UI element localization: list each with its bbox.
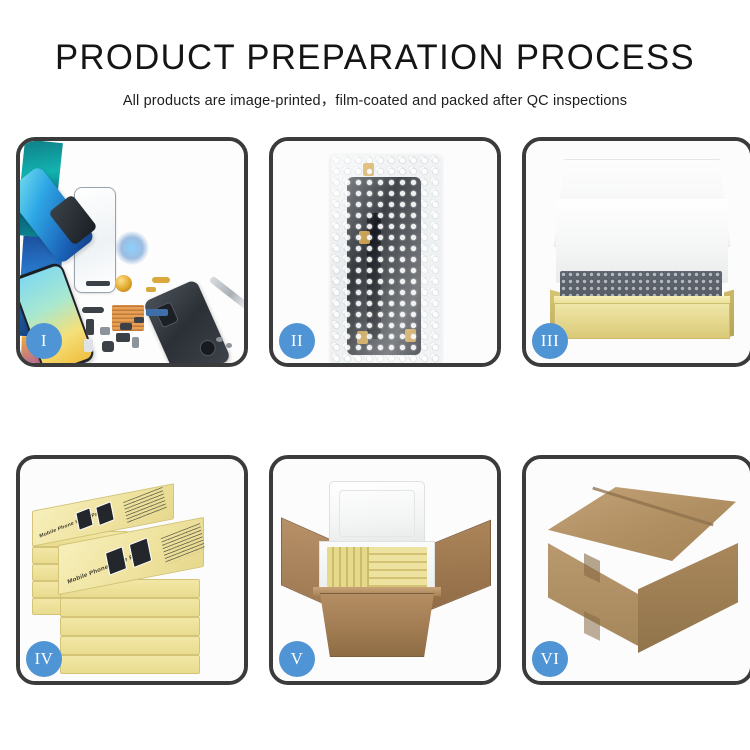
- part-button: [102, 341, 114, 352]
- box-stack: Mobile Phone Spare Parts Mobile Phone Sp…: [30, 475, 242, 675]
- part-chip-1: [86, 319, 94, 335]
- step-badge-4: IV: [26, 641, 62, 677]
- stack-box-spec-lines-front: [161, 523, 206, 565]
- process-step-1[interactable]: I: [16, 137, 248, 367]
- step-badge-2: II: [279, 323, 315, 359]
- carton-front: [315, 593, 439, 657]
- process-step-6[interactable]: VI: [522, 455, 750, 685]
- step-badge-6: VI: [532, 641, 568, 677]
- step-badge-3: III: [532, 323, 568, 359]
- bubble-wrap-package: [331, 155, 441, 363]
- part-chip-3: [116, 333, 130, 342]
- part-screw: [216, 337, 223, 342]
- plastic-sheen: [331, 155, 441, 363]
- stack-box-product-image-1: [75, 507, 93, 531]
- stack-box-front-4: [60, 636, 200, 655]
- process-step-5[interactable]: V: [269, 455, 501, 685]
- foam-lid: [329, 481, 425, 547]
- stack-box-spec-lines-rear: [123, 487, 167, 525]
- part-ribbon: [82, 307, 104, 313]
- carton-right-face: [638, 543, 738, 653]
- box-front-panel: [554, 303, 730, 339]
- sealed-carton: [540, 487, 744, 659]
- stack-box-product-image-2: [95, 501, 115, 526]
- process-step-4[interactable]: Mobile Phone Spare Parts Mobile Phone Sp…: [16, 455, 248, 685]
- part-screw-2: [226, 343, 232, 348]
- part-bracket: [134, 317, 144, 323]
- step-badge-5: V: [279, 641, 315, 677]
- part-connector: [152, 277, 170, 283]
- page-title: PRODUCT PREPARATION PROCESS: [4, 40, 747, 77]
- part-chip-2: [100, 327, 110, 335]
- part-camera: [84, 339, 93, 352]
- tweezers-tool: [209, 276, 248, 310]
- stack-box-front-3: [60, 617, 200, 636]
- stack-box-front-5: [60, 655, 200, 674]
- product-preparation-infographic: PRODUCT PREPARATION PROCESS All products…: [0, 0, 750, 750]
- speaker-component: [115, 275, 132, 292]
- part-shield: [120, 323, 132, 330]
- part-strip: [86, 281, 110, 286]
- step-badge-1: I: [26, 323, 62, 359]
- stack-box-product-image-4: [129, 537, 152, 568]
- phone-chassis: [143, 279, 232, 367]
- page-subtitle: All products are image-printed，film-coat…: [0, 89, 750, 110]
- stack-box-front-2: [60, 598, 200, 617]
- part-connector-small: [146, 287, 156, 292]
- process-step-2[interactable]: II: [269, 137, 501, 367]
- process-step-3[interactable]: III: [522, 137, 750, 367]
- part-flex-cable: [146, 309, 168, 316]
- packed-yellow-boxes-stacked: [369, 547, 427, 587]
- part-screw-pack: [132, 337, 139, 348]
- header: PRODUCT PREPARATION PROCESS All products…: [0, 40, 750, 110]
- stack-box-product-image-3: [105, 546, 127, 576]
- process-step-grid: I II: [16, 137, 734, 685]
